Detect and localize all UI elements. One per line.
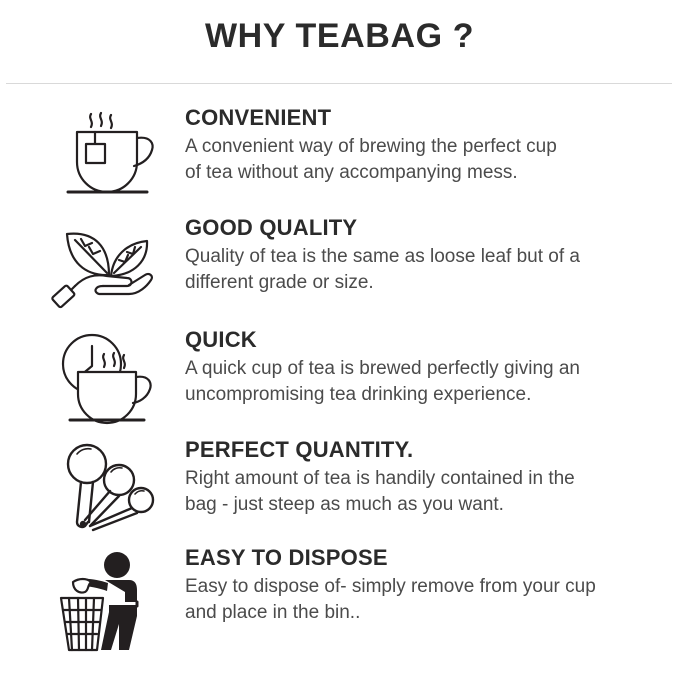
item-title: CONVENIENT <box>185 106 667 131</box>
item-description-line: and place in the bin.. <box>185 600 665 626</box>
item-description-line: bag - just steep as much as you want. <box>185 492 665 518</box>
hand-holding-tea-leaves-icon <box>51 220 163 312</box>
clock-with-teacup-icon <box>52 332 162 428</box>
item-title: QUICK <box>185 328 667 353</box>
teacup-with-teabag-icon <box>55 110 159 200</box>
page-title: WHY TEABAG ? <box>0 18 679 55</box>
header-divider <box>6 83 672 84</box>
item-description-line: A convenient way of brewing the perfect … <box>185 134 665 160</box>
item-description-line: uncompromising tea drinking experience. <box>185 382 665 408</box>
icon-cell <box>28 104 185 200</box>
measuring-spoons-icon <box>55 442 159 536</box>
infographic-page: WHY TEABAG ? <box>0 0 679 679</box>
text-cell: EASY TO DISPOSE Easy to dispose of- simp… <box>185 544 679 626</box>
tidy-man-bin-icon <box>53 550 161 654</box>
list-item-quick: QUICK A quick cup of tea is brewed perfe… <box>0 326 679 436</box>
item-description-line: of tea without any accompanying mess. <box>185 160 665 186</box>
icon-cell <box>28 436 185 536</box>
item-description-line: Easy to dispose of- simply remove from y… <box>185 574 665 600</box>
item-title: PERFECT QUANTITY. <box>185 438 667 463</box>
list-item-convenient: CONVENIENT A convenient way of brewing t… <box>0 104 679 214</box>
item-description-line: Right amount of tea is handily contained… <box>185 466 665 492</box>
item-title: GOOD QUALITY <box>185 216 667 241</box>
item-description: A convenient way of brewing the perfect … <box>185 134 665 186</box>
item-description: Right amount of tea is handily contained… <box>185 466 665 518</box>
icon-cell <box>28 214 185 312</box>
page-header: WHY TEABAG ? <box>0 0 679 55</box>
item-description-line: A quick cup of tea is brewed perfectly g… <box>185 356 665 382</box>
item-description-line: Quality of tea is the same as loose leaf… <box>185 244 665 270</box>
benefits-list: CONVENIENT A convenient way of brewing t… <box>0 104 679 664</box>
list-item-good-quality: GOOD QUALITY Quality of tea is the same … <box>0 214 679 326</box>
text-cell: QUICK A quick cup of tea is brewed perfe… <box>185 326 679 408</box>
list-item-easy-to-dispose: EASY TO DISPOSE Easy to dispose of- simp… <box>0 544 679 664</box>
text-cell: CONVENIENT A convenient way of brewing t… <box>185 104 679 186</box>
list-item-perfect-quantity: PERFECT QUANTITY. Right amount of tea is… <box>0 436 679 544</box>
item-description: A quick cup of tea is brewed perfectly g… <box>185 356 665 408</box>
item-description-line: different grade or size. <box>185 270 665 296</box>
icon-cell <box>28 544 185 654</box>
text-cell: GOOD QUALITY Quality of tea is the same … <box>185 214 679 296</box>
item-description: Quality of tea is the same as loose leaf… <box>185 244 665 296</box>
icon-cell <box>28 326 185 428</box>
item-description: Easy to dispose of- simply remove from y… <box>185 574 665 626</box>
text-cell: PERFECT QUANTITY. Right amount of tea is… <box>185 436 679 518</box>
item-title: EASY TO DISPOSE <box>185 546 667 571</box>
